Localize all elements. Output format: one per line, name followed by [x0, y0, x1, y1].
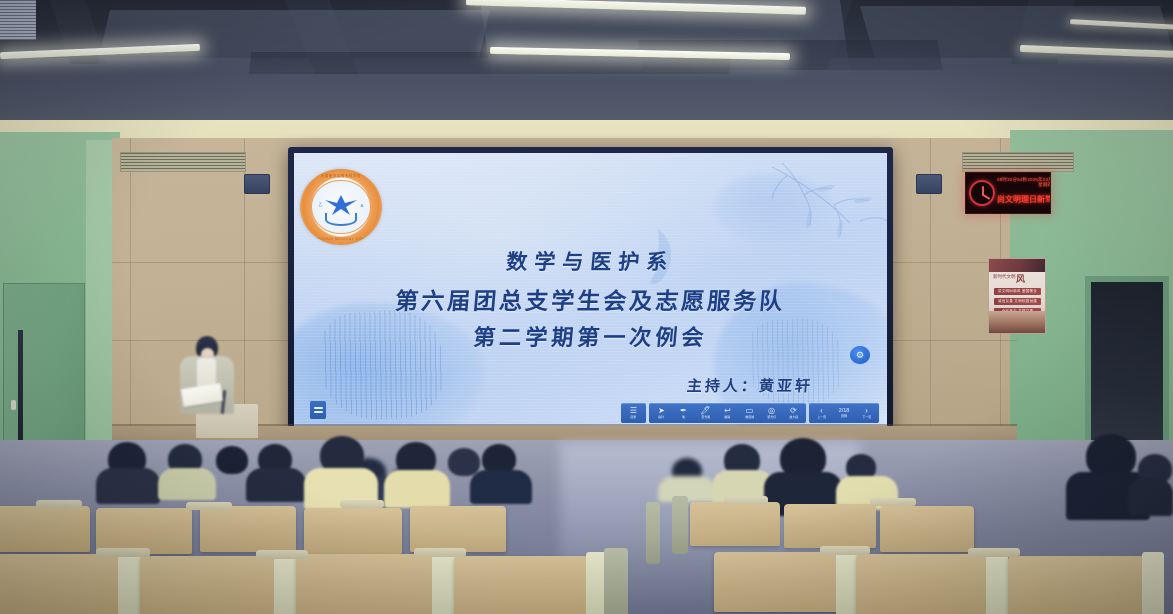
poster-big-char: 风 [1016, 272, 1025, 285]
chevron-right-icon: › [865, 407, 868, 415]
ppt-spotlight-button[interactable]: ◎ 聚光灯 [761, 404, 782, 422]
wall-speaker-right [916, 174, 942, 194]
ppt-presentation-toolbar[interactable]: ☰ 目录 ➤ 指针 ✒ 笔 🖊 荧光笔 ↩ 撤 [621, 403, 879, 423]
seat-row-side-panel [672, 496, 688, 554]
led-marquee-sign: 09时32分54秒 2025年03月06日 星期四 尚文明理 日新笃行 [965, 172, 1051, 214]
seat-cushion-edge [432, 550, 456, 614]
led-motto-left: 尚文明理 [997, 195, 1029, 205]
pen-icon: ✒ [680, 407, 687, 415]
audience-head [448, 448, 480, 476]
led-date-text: 2025年03月06日 星期四 [1027, 177, 1051, 187]
auditorium-seat[interactable] [304, 508, 402, 554]
auditorium-seat-front[interactable] [140, 556, 280, 614]
auditorium-seat[interactable] [690, 502, 780, 546]
auditorium-seat[interactable] [410, 506, 506, 552]
seat-armrest [256, 550, 308, 559]
audience-torso [384, 470, 450, 508]
ppt-magnifier-button[interactable]: ⟳ 放大镜 [783, 404, 804, 422]
poster-title: 新时代文明 [993, 274, 1016, 280]
ppt-menu-icon[interactable]: ☰ 目录 [623, 404, 644, 422]
ppt-pen-button[interactable]: ✒ 笔 [673, 404, 694, 422]
door-edge-shadow [18, 330, 23, 440]
auditorium-seat-front[interactable] [0, 554, 126, 614]
side-door[interactable] [3, 283, 85, 443]
ceiling [0, 0, 1173, 140]
emblem-inner-disc: 乙 & [311, 180, 370, 235]
seat-armrest [96, 548, 150, 557]
led-time-text: 09时32分54秒 [997, 177, 1027, 187]
seat-armrest [340, 500, 384, 508]
seat-armrest [724, 496, 768, 504]
seat-armrest [968, 548, 1020, 557]
ceiling-vent-1 [120, 152, 246, 172]
chevron-left-icon: ‹ [820, 407, 823, 415]
wall-speaker-left [244, 174, 270, 194]
seat-row-end-panel [604, 548, 628, 614]
ppt-undo-button[interactable]: ↩ 撤销 [717, 404, 738, 422]
wall-poster: 新时代文明 风 讲文明树新风 爱国敬业 诚信友善 文明校园创建 全民参与 共建共… [988, 258, 1046, 334]
ppt-annotate-group[interactable]: ➤ 指针 ✒ 笔 🖊 荧光笔 ↩ 撤销 ▭ 橡皮擦 [649, 403, 806, 423]
audience-torso [1128, 478, 1173, 516]
auditorium-seat[interactable] [784, 504, 876, 548]
poster-bar-2: 诚信友善 文明校园创建 [994, 298, 1041, 305]
emblem-top-text: 长春医学高等专科学校 [300, 173, 382, 178]
auditorium-seat-front[interactable] [856, 554, 992, 614]
seat-armrest [820, 546, 870, 555]
seat-armrest [414, 548, 466, 557]
pointer-icon: ➤ [658, 407, 665, 415]
refresh-icon: ⟳ [790, 407, 797, 415]
spotlight-icon: ◎ [768, 407, 775, 415]
emblem-bottom-text: CHANGCHUN MEDICAL COLLEGE [300, 237, 382, 241]
poster-header-band [989, 259, 1045, 272]
seat-armrest [186, 502, 232, 510]
auditorium-seat[interactable] [880, 506, 974, 552]
seat-cushion-edge [836, 548, 858, 614]
highlighter-icon: 🖊 [700, 407, 710, 415]
projection-screen[interactable] [294, 153, 887, 431]
seat-cushion-edge [986, 550, 1008, 614]
auditorium-seat[interactable] [200, 506, 296, 552]
ink-stroke-decoration [624, 225, 684, 289]
ppt-next-slide-button[interactable]: › 下一页 [856, 404, 877, 422]
auditorium-seat-front[interactable] [1008, 556, 1148, 614]
auditorium-photo: 09时32分54秒 2025年03月06日 星期四 尚文明理 日新笃行 新时代文… [0, 0, 1173, 614]
auditorium-seat-front[interactable] [714, 552, 842, 612]
ppt-highlighter-button[interactable]: 🖊 荧光笔 [695, 404, 716, 422]
list-icon: ☰ [630, 407, 637, 415]
ppt-prev-slide-button[interactable]: ‹ 上一页 [811, 404, 832, 422]
auditorium-seat-front[interactable] [296, 554, 438, 614]
poster-illustration [989, 311, 1045, 333]
seat-cushion-edge [118, 550, 142, 614]
presenter [176, 336, 238, 414]
ppt-navigation-group[interactable]: ‹ 上一页 2/18 页码 › 下一页 [809, 403, 879, 423]
audience-seating [0, 430, 1173, 614]
ppt-page-indicator[interactable]: 2/18 页码 [833, 404, 855, 422]
audience-torso [96, 468, 160, 504]
poster-bar-1: 讲文明树新风 爱国敬业 [994, 288, 1041, 295]
audience-torso [246, 468, 306, 502]
door-knob[interactable] [11, 400, 16, 410]
ppt-toolbar-left-stub[interactable]: ☰ 目录 [621, 403, 646, 423]
seat-cushion-edge [274, 552, 298, 614]
emblem-arc [325, 213, 357, 226]
auditorium-seat[interactable] [0, 506, 90, 552]
ppt-pointer-button[interactable]: ➤ 指针 [651, 404, 672, 422]
seat-row-side-panel [646, 502, 660, 564]
ppt-menu-button[interactable] [310, 401, 326, 419]
ppt-eraser-button[interactable]: ▭ 橡皮擦 [739, 404, 760, 422]
school-emblem: 长春医学高等专科学校 CHANGCHUN MEDICAL COLLEGE 乙 & [300, 169, 382, 245]
audience-torso [158, 468, 216, 500]
ceiling-vent-4 [962, 152, 1074, 172]
led-motto-right: 日新笃行 [1029, 195, 1051, 205]
bamboo-branch-decoration [764, 161, 887, 241]
seat-cushion-edge [1142, 552, 1164, 614]
seat-armrest [36, 500, 82, 508]
eraser-icon: ▭ [746, 407, 754, 415]
audience-head [216, 446, 248, 474]
auditorium-seat-front[interactable] [454, 556, 592, 614]
clock-icon [969, 180, 995, 206]
seat-armrest [870, 498, 916, 506]
undo-icon: ↩ [724, 407, 731, 415]
audience-torso [470, 470, 532, 504]
